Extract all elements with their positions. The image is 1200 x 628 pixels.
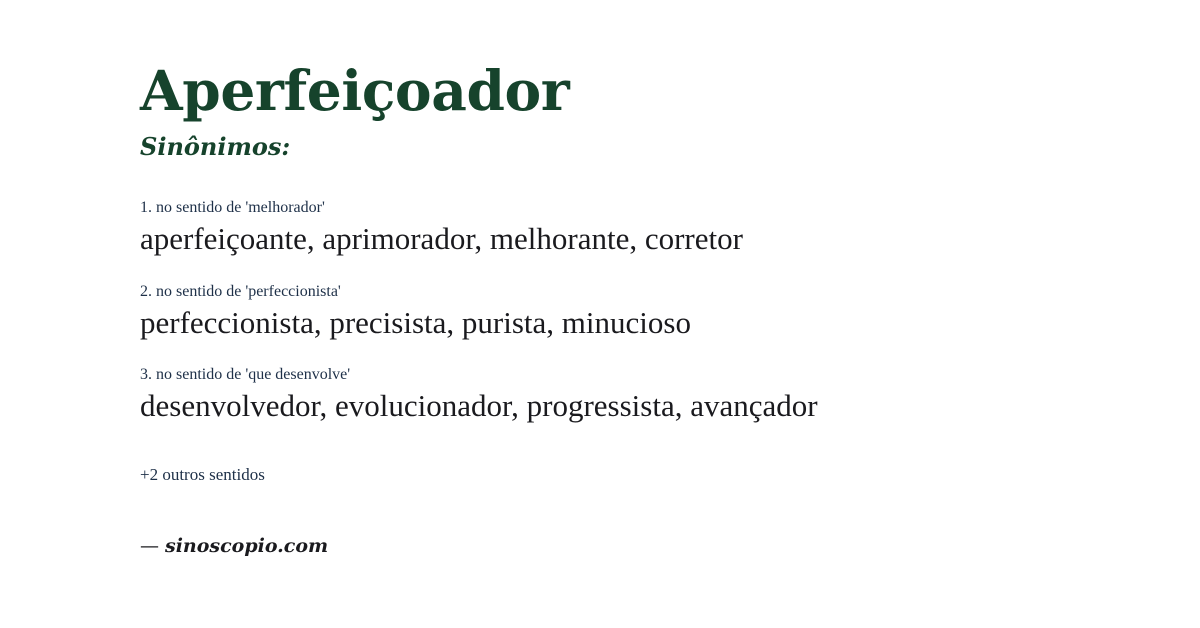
sense-entry: 1. no sentido de 'melhorador' aperfeiçoa… (140, 198, 1140, 258)
sense-label: 1. no sentido de 'melhorador' (140, 198, 1140, 218)
sense-synonyms: desenvolvedor, evolucionador, progressis… (140, 388, 1140, 425)
sense-entry: 3. no sentido de 'que desenvolve' desenv… (140, 365, 1140, 425)
sense-entry: 2. no sentido de 'perfeccionista' perfec… (140, 282, 1140, 342)
synonym-card: Aperfeiçoador Sinônimos: 1. no sentido d… (0, 0, 1200, 628)
sense-list: 1. no sentido de 'melhorador' aperfeiçoa… (140, 198, 1140, 425)
em-dash-icon: — (140, 535, 159, 557)
sense-label: 2. no sentido de 'perfeccionista' (140, 282, 1140, 302)
sense-label: 3. no sentido de 'que desenvolve' (140, 365, 1140, 385)
attribution-source: sinoscopio.com (165, 535, 328, 557)
sense-synonyms: aperfeiçoante, aprimorador, melhorante, … (140, 221, 1140, 258)
more-senses-note: +2 outros sentidos (140, 464, 265, 485)
page-title: Aperfeiçoador (140, 63, 569, 118)
sense-synonyms: perfeccionista, precisista, purista, min… (140, 305, 1140, 342)
section-subtitle: Sinônimos: (140, 133, 290, 162)
attribution: —sinoscopio.com (140, 534, 328, 559)
